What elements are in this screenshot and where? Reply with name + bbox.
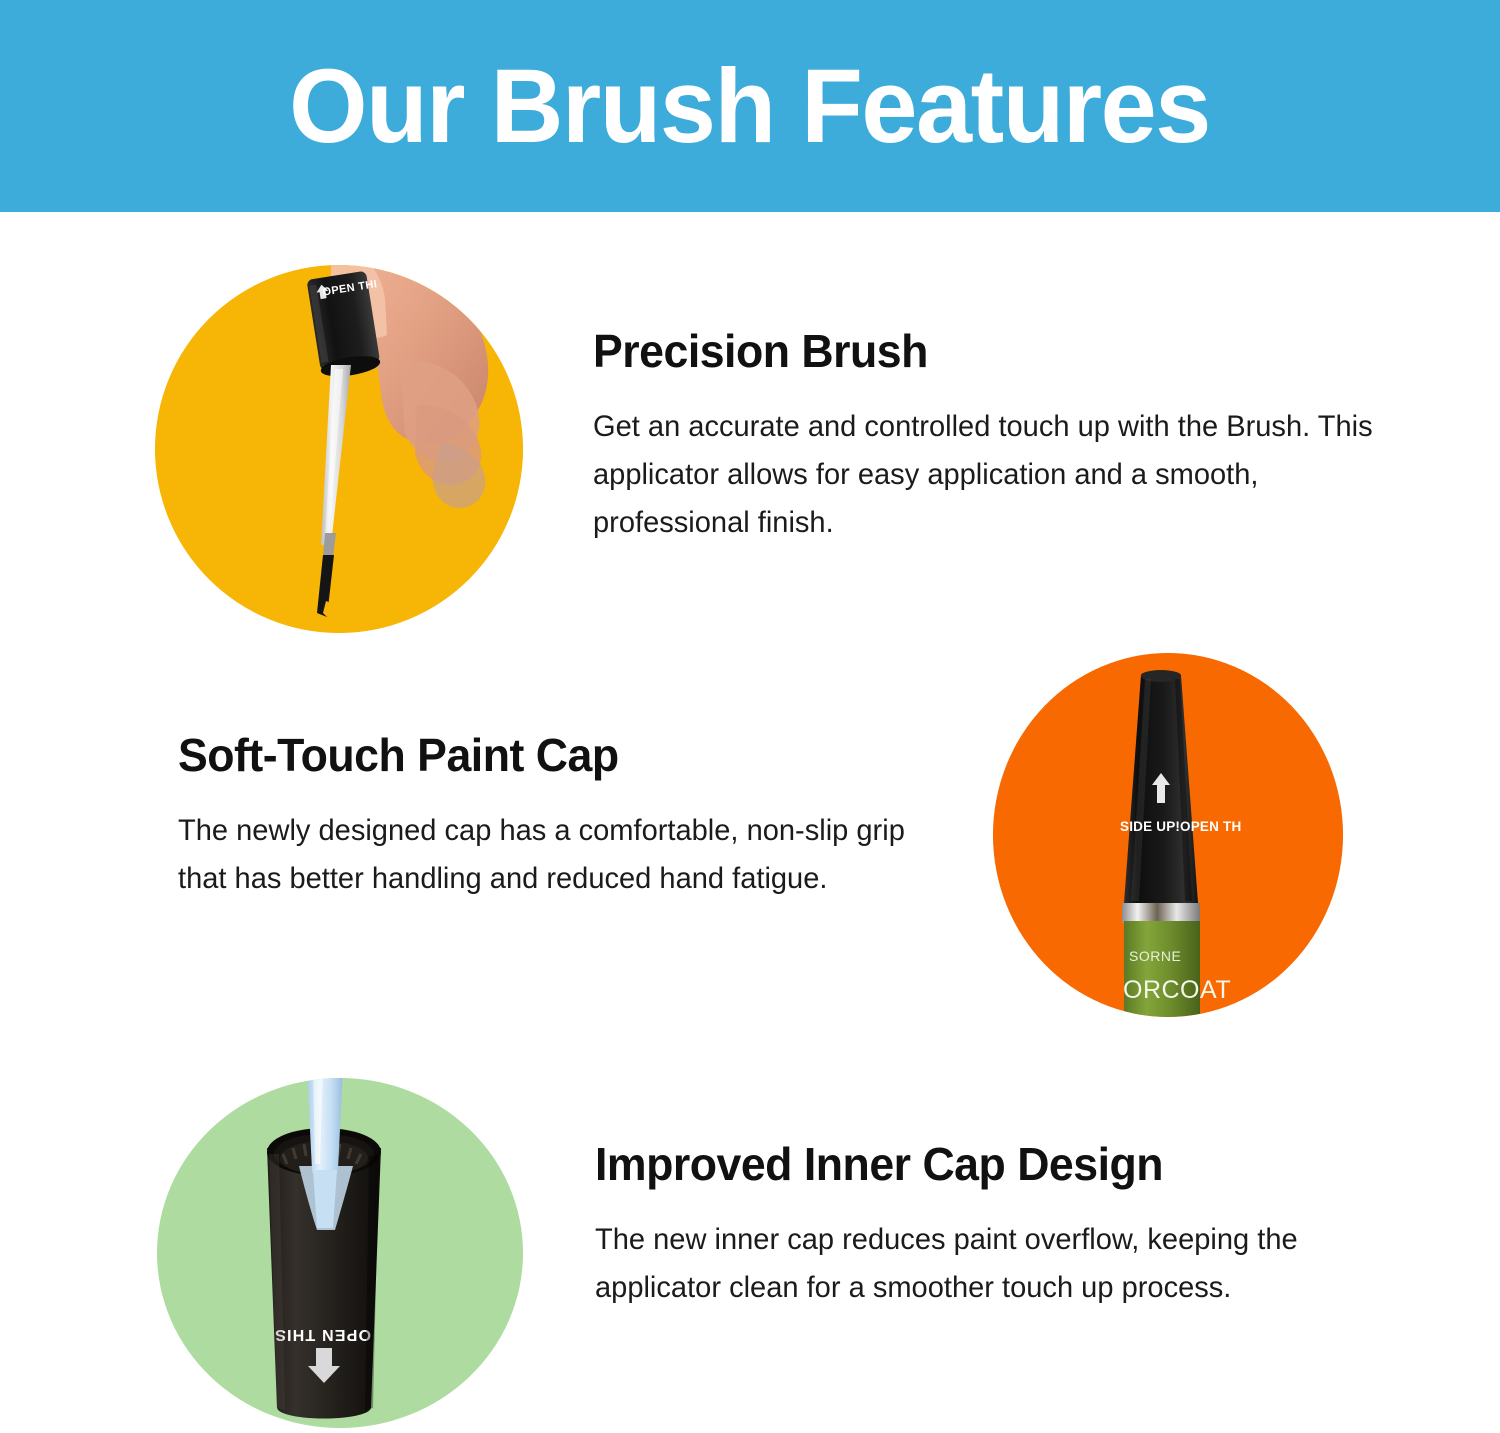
feature-row-precision-brush: OPEN THI Precision Brus [155, 265, 1385, 633]
feature-title: Precision Brush [593, 327, 1361, 375]
page-title: Our Brush Features [290, 54, 1211, 159]
feature-row-soft-touch-paint-cap: Soft-Touch Paint Cap The newly designed … [178, 653, 1343, 1017]
soft-touch-cap-illustration: SIDE UP! OPEN TH SORNE ORCOAT [993, 653, 1343, 1017]
feature-title: Improved Inner Cap Design [595, 1140, 1363, 1188]
svg-text:OPEN TH: OPEN TH [1180, 819, 1241, 834]
inner-cap-illustration: OPEN THIS [157, 1078, 523, 1428]
svg-text:ORCOAT: ORCOAT [1123, 976, 1231, 1004]
inner-cap-photo: OPEN THIS [157, 1078, 523, 1428]
soft-touch-cap-photo: SIDE UP! OPEN TH SORNE ORCOAT [993, 653, 1343, 1017]
brush-features-infographic: Our Brush Features [0, 0, 1500, 1433]
feature-title: Soft-Touch Paint Cap [178, 731, 922, 779]
precision-brush-photo: OPEN THI [155, 265, 523, 633]
feature-body: The new inner cap reduces paint overflow… [595, 1216, 1375, 1312]
svg-text:SIDE UP!: SIDE UP! [1120, 819, 1180, 834]
header-banner: Our Brush Features [0, 0, 1500, 212]
precision-brush-illustration: OPEN THI [155, 265, 523, 633]
feature-row-improved-inner-cap-design: OPEN THIS Improved Inner Cap Design The … [157, 1078, 1387, 1428]
feature-copy-soft-touch-paint-cap: Soft-Touch Paint Cap The newly designed … [178, 653, 945, 903]
svg-text:SORNE: SORNE [1129, 948, 1181, 964]
svg-text:OPEN THIS: OPEN THIS [274, 1326, 371, 1343]
feature-copy-precision-brush: Precision Brush Get an accurate and cont… [593, 265, 1385, 547]
feature-copy-improved-inner-cap-design: Improved Inner Cap Design The new inner … [595, 1078, 1387, 1312]
feature-body: The newly designed cap has a comfortable… [178, 807, 933, 903]
feature-body: Get an accurate and controlled touch up … [593, 403, 1373, 546]
